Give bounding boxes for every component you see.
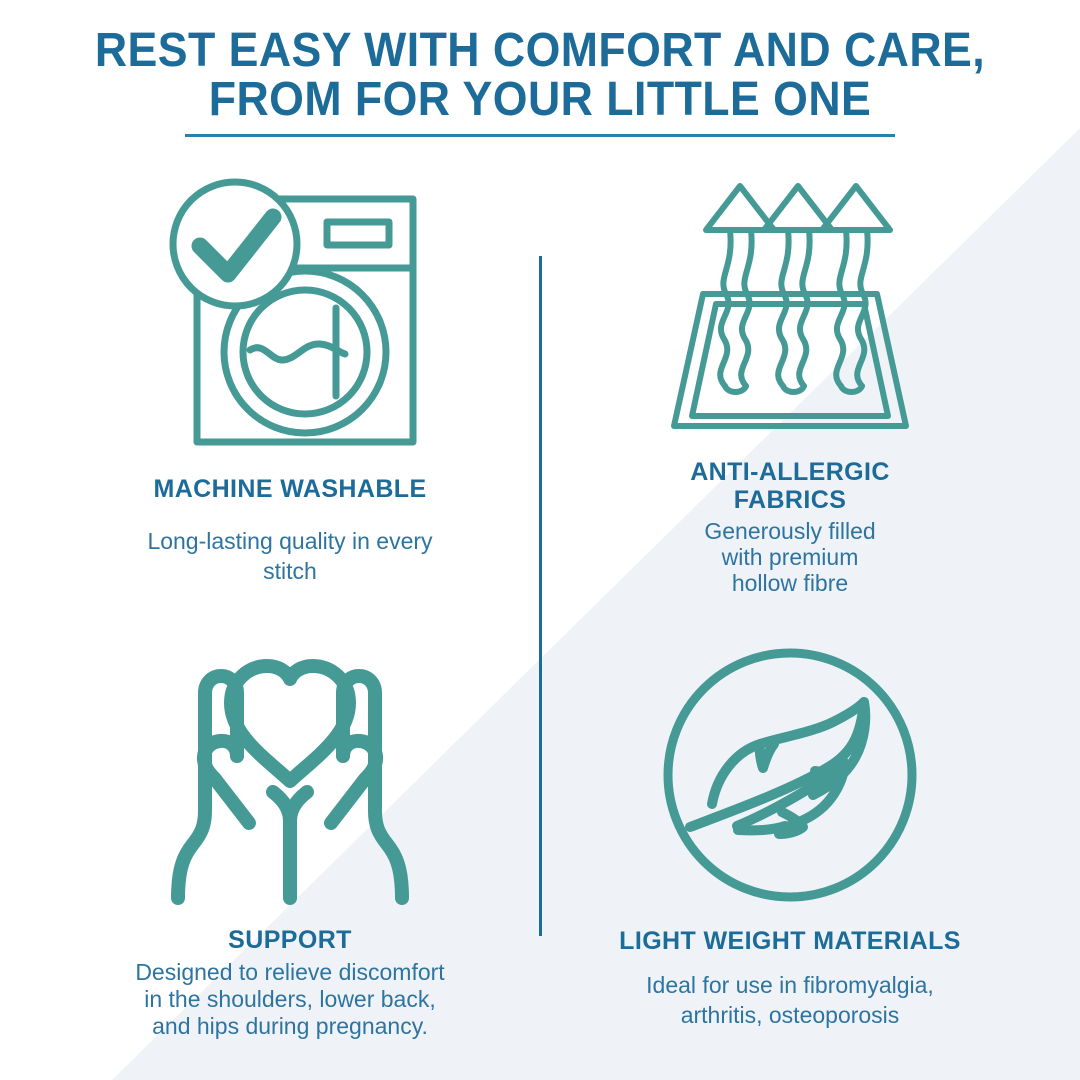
icon-container (560, 176, 1020, 446)
desc-line: hollow fibre (560, 570, 1020, 596)
feature-title: ANTI-ALLERGIC FABRICS (560, 458, 1020, 514)
feature-support: SUPPORT Designed to relieve discomfort i… (60, 636, 520, 1040)
icon-container (60, 168, 520, 458)
feature-title: MACHINE WASHABLE (60, 474, 520, 504)
infographic-page: REST EASY WITH COMFORT AND CARE, FROM FO… (0, 0, 1080, 1080)
feature-title: LIGHT WEIGHT MATERIALS (560, 926, 1020, 956)
feature-description: Designed to relieve discomfort in the sh… (60, 959, 520, 1040)
feature-description: Generously filled with premium hollow fi… (560, 518, 1020, 596)
title-line-1: REST EASY WITH COMFORT AND CARE, (38, 26, 1042, 75)
title-line-2: FROM FOR YOUR LITTLE ONE (38, 75, 1042, 124)
hands-holding-heart-icon (145, 636, 435, 911)
feature-light-weight: LIGHT WEIGHT MATERIALS Ideal for use in … (560, 640, 1020, 1030)
desc-line: arthritis, osteoporosis (560, 1000, 1020, 1030)
desc-line: stitch (60, 556, 520, 586)
feather-in-circle-icon (655, 640, 925, 910)
title-underline (185, 134, 895, 137)
desc-line: Ideal for use in fibromyalgia, (560, 970, 1020, 1000)
feature-machine-washable: MACHINE WASHABLE Long-lasting quality in… (60, 168, 520, 586)
desc-line: Long-lasting quality in every (60, 526, 520, 556)
breathable-fabric-icon (650, 176, 930, 446)
washing-machine-check-icon (140, 168, 440, 458)
desc-line: in the shoulders, lower back, (60, 986, 520, 1013)
desc-line: Designed to relieve discomfort (60, 959, 520, 986)
column-divider (539, 256, 542, 936)
feature-title: SUPPORT (60, 925, 520, 955)
desc-line: and hips during pregnancy. (60, 1013, 520, 1040)
desc-line: Generously filled (560, 518, 1020, 544)
desc-line: with premium (560, 544, 1020, 570)
page-title: REST EASY WITH COMFORT AND CARE, FROM FO… (0, 26, 1080, 137)
icon-container (60, 636, 520, 911)
feature-description: Ideal for use in fibromyalgia, arthritis… (560, 970, 1020, 1030)
feature-anti-allergic: ANTI-ALLERGIC FABRICS Generously filled … (560, 176, 1020, 596)
feature-title-line: ANTI-ALLERGIC (560, 458, 1020, 486)
feature-description: Long-lasting quality in every stitch (60, 526, 520, 586)
icon-container (560, 640, 1020, 910)
feature-title-line: FABRICS (560, 486, 1020, 514)
